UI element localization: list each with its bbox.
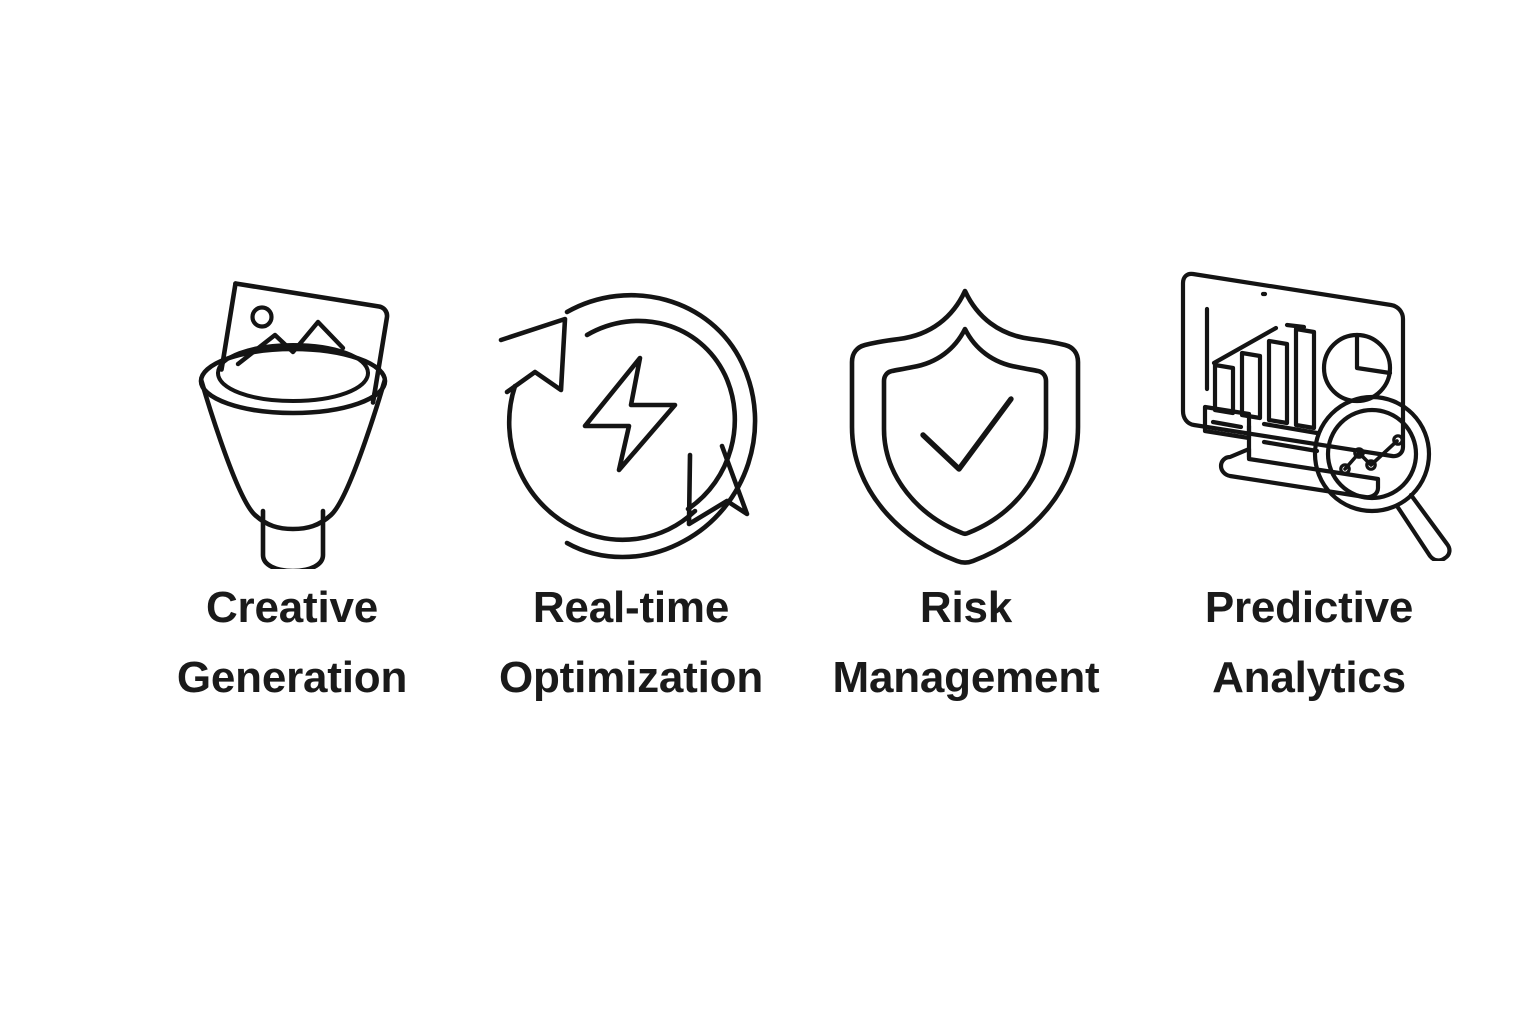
feature-card-predictive-analytics[interactable]: Predictive Analytics bbox=[1130, 255, 1460, 712]
feature-card-real-time-optimization[interactable]: Real-time Optimization bbox=[470, 255, 800, 712]
shield-check-icon bbox=[815, 273, 1115, 573]
monitor-magnifier-analytics-icon bbox=[1159, 261, 1459, 561]
feature-label-real-time-optimization: Real-time Optimization bbox=[499, 573, 763, 712]
features-row: Creative Generation Real- bbox=[140, 255, 1460, 712]
feature-label-predictive-analytics: Predictive Analytics bbox=[1205, 573, 1413, 712]
feature-card-risk-management[interactable]: Risk Management bbox=[800, 255, 1130, 712]
feature-label-creative-generation: Creative Generation bbox=[177, 573, 407, 712]
feature-label-risk-management: Risk Management bbox=[833, 573, 1100, 712]
funnel-image-icon bbox=[143, 269, 443, 569]
icon-feature-board: Creative Generation Real- bbox=[0, 0, 1536, 1024]
refresh-lightning-icon bbox=[479, 271, 779, 571]
feature-card-creative-generation[interactable]: Creative Generation bbox=[140, 255, 470, 712]
